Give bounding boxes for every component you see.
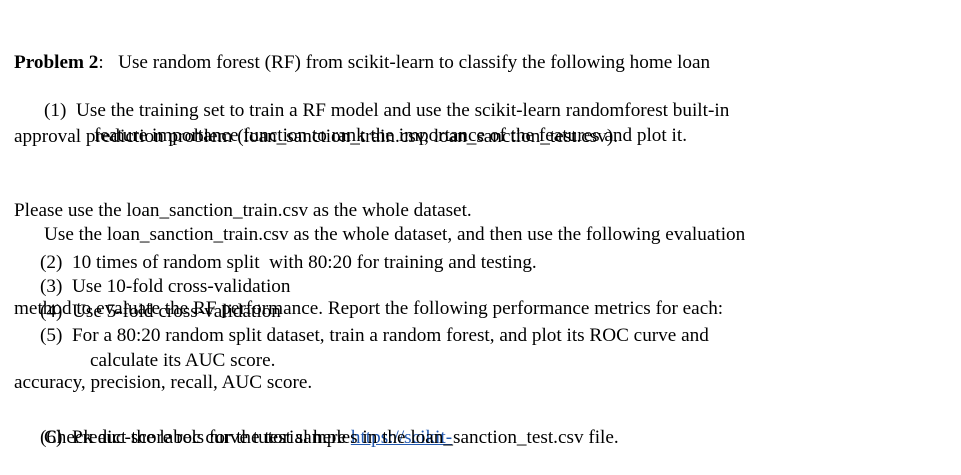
list-item-1-text: Use the training set to train a RF model… <box>76 99 874 148</box>
list-item-6: (6) Predict the labels for the test samp… <box>40 426 890 451</box>
list-item-6-number: (6) <box>40 426 72 451</box>
list-item-5-line-1: For a 80:20 random split dataset, train … <box>72 325 709 346</box>
list-item-5: (5) For a 80:20 random split dataset, tr… <box>40 324 880 373</box>
list-item-2-text: 10 times of random split with 80:20 for … <box>72 251 890 276</box>
list-item-5-text: For a 80:20 random split dataset, train … <box>72 324 880 373</box>
document-page: Problem 2: Use random forest (RF) from s… <box>0 0 961 475</box>
intro-line-1-rest: : Use random forest (RF) from scikit-lea… <box>98 52 710 73</box>
list-item-3-text: Use 10-fold cross-validation <box>72 275 890 300</box>
list-item-3-number: (3) <box>40 275 72 300</box>
list-item-4-number: (4) <box>40 300 72 325</box>
list-item-1: (1) Use the training set to train a RF m… <box>44 99 874 148</box>
list-item-1-line-2: feature importance function to rank the … <box>76 124 874 149</box>
list-item-1-line-1: Use the training set to train a RF model… <box>76 100 729 121</box>
evaluation-line-1: Use the loan_sanction_train.csv as the w… <box>14 223 894 248</box>
list-item-5-number: (5) <box>40 324 72 373</box>
list-item-6-text: Predict the labels for the test samples … <box>72 426 890 451</box>
list-item-1-number: (1) <box>44 99 76 148</box>
list-item-2: (2) 10 times of random split with 80:20 … <box>40 251 890 276</box>
list-item-2-number: (2) <box>40 251 72 276</box>
intro-line-1: Problem 2: Use random forest (RF) from s… <box>14 51 894 76</box>
list-item-4-text: Use 5-fold cross-validation <box>72 300 890 325</box>
list-item-4: (4) Use 5-fold cross-validation <box>40 300 890 325</box>
list-item-5-line-2: calculate its AUC score. <box>72 349 880 374</box>
list-item-3: (3) Use 10-fold cross-validation <box>40 275 890 300</box>
problem-label: Problem 2 <box>14 52 98 73</box>
